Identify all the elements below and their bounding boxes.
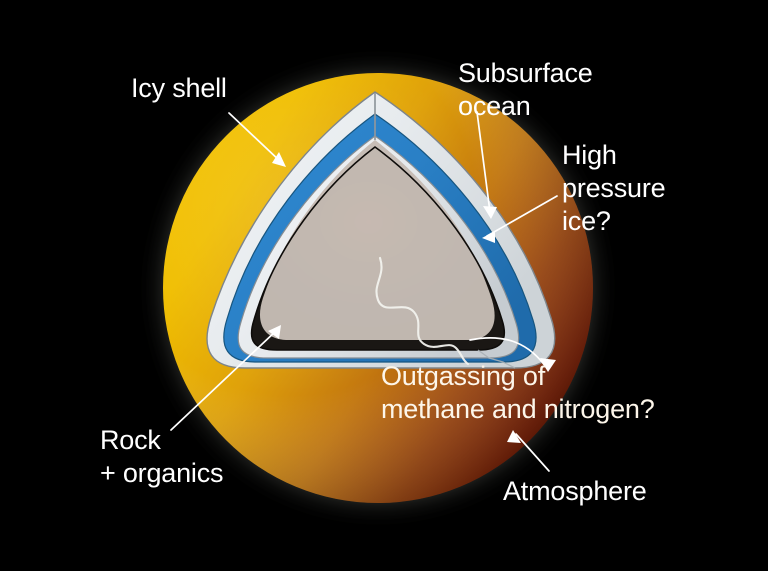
- diagram-canvas: Icy shell Subsurface ocean High pressure…: [0, 0, 768, 571]
- interior-cutaway-svg: [0, 0, 768, 571]
